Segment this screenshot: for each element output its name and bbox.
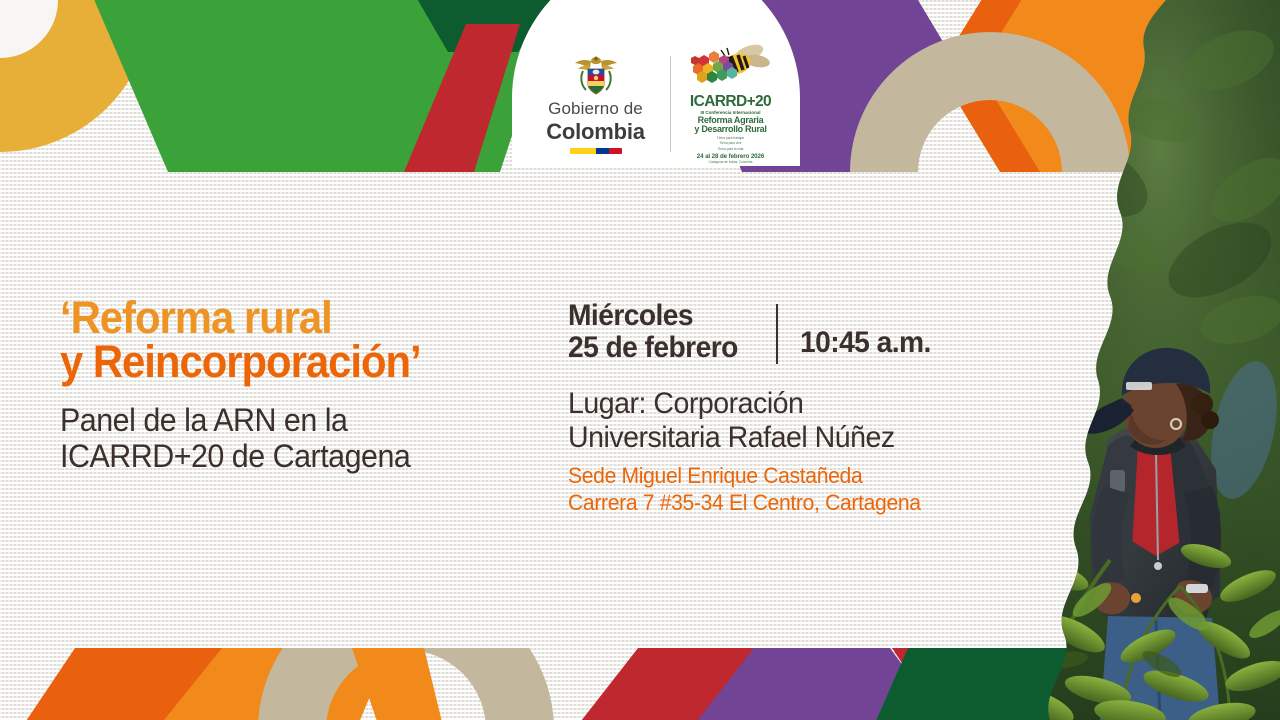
colombia-flag-bar-icon	[570, 148, 622, 154]
event-address-line1: Sede Miguel Enrique Castañeda	[568, 463, 981, 489]
gov-logo-line1: Gobierno de	[548, 100, 643, 118]
headline-subtitle-line2: ICARRD+20 de Cartagena	[60, 438, 526, 474]
event-date-line1: Miércoles	[568, 300, 764, 332]
icarrd-tiny-line2: Tierra para vivir	[675, 141, 787, 145]
event-venue-line1: Lugar: Corporación	[568, 387, 977, 421]
logo-row: Gobierno de Colombia	[512, 44, 800, 164]
gobierno-de-colombia-logo: Gobierno de Colombia	[526, 54, 666, 154]
event-date: Miércoles 25 de febrero	[568, 300, 776, 365]
icarrd-date: 24 al 28 de febrero 2026	[675, 154, 787, 160]
icarrd-place: Cartagena de Indias, Colombia	[675, 161, 787, 164]
icarrd-title: ICARRD+20	[675, 94, 787, 110]
colombia-coat-of-arms-icon	[573, 54, 619, 98]
bottom-amber-wedge	[352, 648, 444, 720]
event-address-line2: Carrera 7 #35-34 El Centro, Cartagena	[568, 490, 981, 516]
event-time: 10:45 a.m.	[800, 326, 931, 360]
flyer-canvas: Gobierno de Colombia	[0, 0, 1280, 720]
event-info-block: Miércoles 25 de febrero 10:45 a.m. Lugar…	[568, 300, 998, 516]
icarrd-tiny-line3: Tierra para la vida	[675, 147, 787, 151]
bee-with-sdg-hexagons-icon	[687, 44, 775, 94]
headline-title-line2: y Reincorporación’	[60, 340, 516, 384]
event-venue: Lugar: Corporación Universitaria Rafael …	[568, 387, 998, 455]
coffee-harvest-photo	[980, 0, 1280, 720]
headline-title-line1: ‘Reforma rural	[60, 296, 516, 340]
icarrd-big-line2: y Desarrollo Rural	[675, 125, 787, 134]
event-address: Sede Miguel Enrique Castañeda Carrera 7 …	[568, 463, 998, 516]
headline-subtitle-line1: Panel de la ARN en la	[60, 402, 526, 438]
event-venue-line2: Universitaria Rafael Núñez	[568, 421, 977, 455]
gov-logo-line2: Colombia	[546, 120, 645, 143]
date-time-divider	[776, 304, 778, 364]
headline-block: ‘Reforma rural y Reincorporación’ Panel …	[60, 296, 550, 475]
icarrd-logo: ICARRD+20 III Conferencia Internacional …	[675, 44, 787, 164]
date-time-row: Miércoles 25 de febrero 10:45 a.m.	[568, 300, 998, 365]
icarrd-tiny-line1: Tierra para trabajar	[675, 136, 787, 140]
logo-divider	[670, 56, 671, 152]
event-date-line2: 25 de febrero	[568, 332, 764, 364]
